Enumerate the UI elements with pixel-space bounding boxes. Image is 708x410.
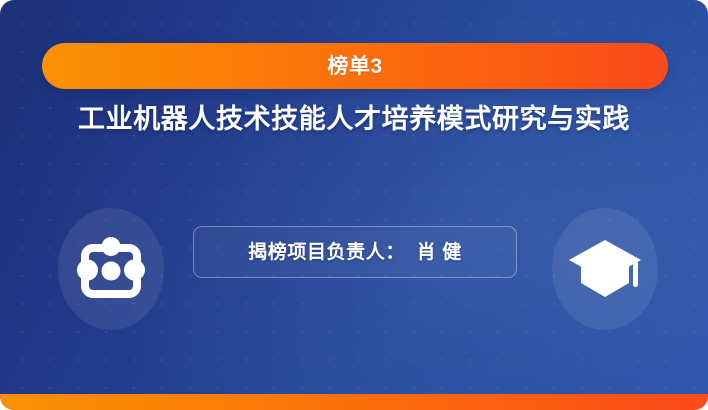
rank-ribbon: 榜单3 xyxy=(42,43,668,89)
project-leader-box: 揭榜项目负责人： 肖 健 xyxy=(193,226,517,278)
robot-icon-blob xyxy=(58,208,164,330)
bottom-accent-bar xyxy=(0,394,708,410)
ranking-banner-card: 榜单3 工业机器人技术技能人才培养模式研究与实践 揭榜项目负责人： xyxy=(0,0,708,410)
rank-ribbon-label: 榜单3 xyxy=(327,56,382,77)
project-leader-text: 揭榜项目负责人： 肖 健 xyxy=(248,243,462,262)
graduation-cap-icon xyxy=(567,234,643,304)
graduation-cap-icon-blob xyxy=(552,208,658,330)
project-title: 工业机器人技术技能人才培养模式研究与实践 xyxy=(0,103,708,137)
robot-icon xyxy=(74,232,148,306)
